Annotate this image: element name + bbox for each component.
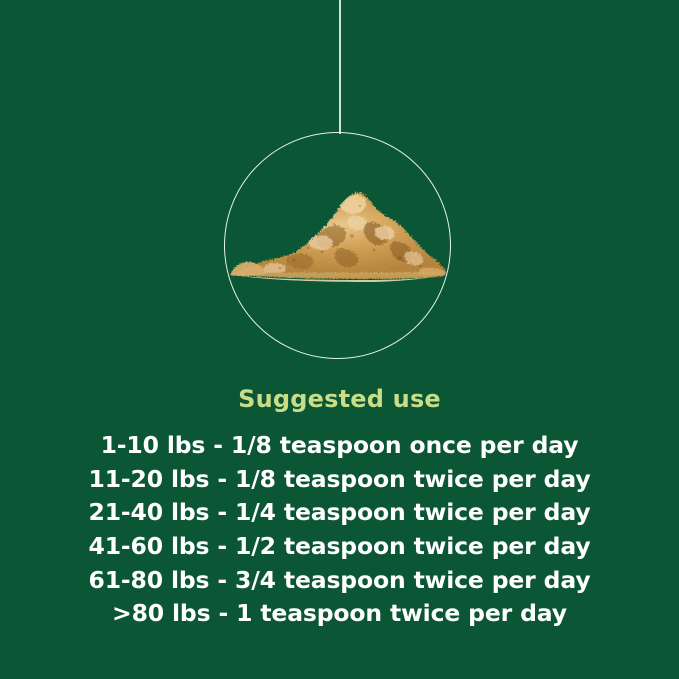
- list-item: 61-80 lbs - 3/4 teaspoon twice per day: [0, 564, 679, 598]
- suggested-use-text-block: Suggested use 1-10 lbs - 1/8 teaspoon on…: [0, 386, 679, 631]
- list-item: 21-40 lbs - 1/4 teaspoon twice per day: [0, 496, 679, 530]
- dosage-list: 1-10 lbs - 1/8 teaspoon once per day 11-…: [0, 429, 679, 631]
- list-item: 11-20 lbs - 1/8 teaspoon twice per day: [0, 463, 679, 497]
- hanging-thread-line: [339, 0, 341, 134]
- product-circle-outline: [224, 132, 451, 359]
- list-item: >80 lbs - 1 teaspoon twice per day: [0, 597, 679, 631]
- suggested-use-panel: Suggested use 1-10 lbs - 1/8 teaspoon on…: [0, 0, 679, 679]
- page-title: Suggested use: [0, 386, 679, 413]
- list-item: 41-60 lbs - 1/2 teaspoon twice per day: [0, 530, 679, 564]
- list-item: 1-10 lbs - 1/8 teaspoon once per day: [0, 429, 679, 463]
